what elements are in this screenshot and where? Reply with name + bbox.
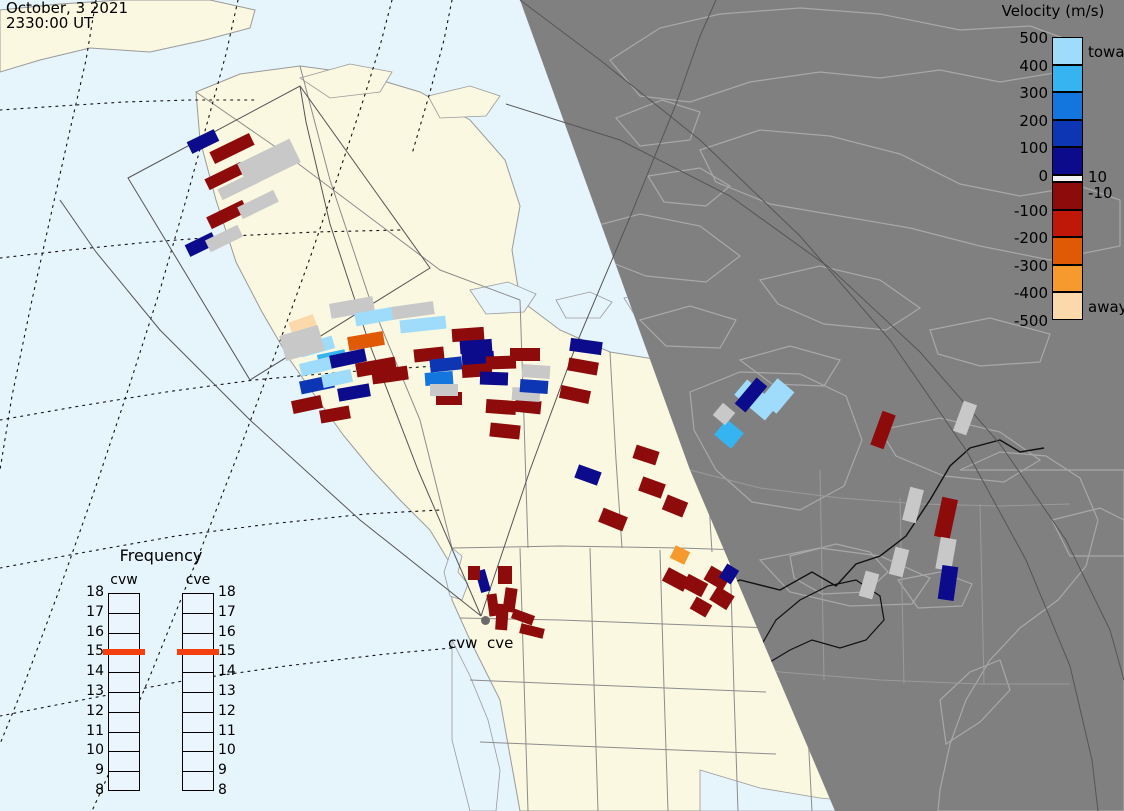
frequency-tick-label: 8	[218, 782, 242, 798]
radar-cell	[713, 403, 736, 426]
frequency-cell	[109, 614, 139, 634]
frequency-tick-label: 10	[218, 742, 242, 758]
frequency-cell	[183, 673, 213, 693]
frequency-tick-label: 15	[218, 643, 242, 659]
frequency-cell	[183, 733, 213, 753]
radar-cell	[569, 338, 602, 355]
frequency-cell	[183, 772, 213, 792]
radar-station-marker	[481, 616, 490, 625]
frequency-tick-label: 13	[80, 683, 104, 699]
colorbar-band	[1052, 92, 1083, 120]
radar-cell	[662, 494, 688, 517]
frequency-tick-label: 17	[80, 604, 104, 620]
radar-cell	[429, 356, 462, 372]
frequency-cell	[109, 713, 139, 733]
frequency-tick-label: 8	[80, 782, 104, 798]
frequency-tick-label: 14	[80, 663, 104, 679]
radar-cell	[938, 565, 959, 601]
site-label-cve: cve	[487, 634, 513, 652]
frequency-bar	[182, 593, 214, 791]
radar-cell	[953, 401, 977, 436]
frequency-marker	[177, 649, 219, 655]
frequency-tick-label: 11	[218, 723, 242, 739]
frequency-tick-label: 16	[218, 624, 242, 640]
frequency-cell	[183, 752, 213, 772]
radar-cell	[522, 364, 551, 379]
colorbar-band	[1052, 182, 1083, 210]
radar-cell	[638, 476, 666, 498]
radar-cell	[495, 604, 509, 631]
colorbar-zero-gap	[1052, 175, 1083, 182]
colorbar-band	[1052, 237, 1083, 265]
radar-cell	[510, 348, 540, 361]
timestamp-time: 2330:00 UT	[6, 16, 128, 31]
frequency-cell	[109, 772, 139, 792]
frequency-cell	[109, 594, 139, 614]
radar-cell	[430, 384, 458, 396]
radar-cell	[889, 547, 909, 578]
frequency-cell	[109, 733, 139, 753]
radar-cell	[237, 190, 279, 219]
frequency-cell	[183, 653, 213, 673]
radar-cell	[468, 566, 480, 580]
colorbar-band	[1052, 120, 1083, 148]
colorbar-strip	[1052, 37, 1083, 320]
radar-cell	[319, 405, 351, 423]
frequency-tick-label: 10	[80, 742, 104, 758]
frequency-column-name: cve	[176, 572, 220, 588]
radar-cell	[574, 464, 601, 485]
radar-cell	[559, 385, 591, 404]
frequency-tick-label: 12	[218, 703, 242, 719]
frequency-tick-label: 16	[80, 624, 104, 640]
frequency-tick-label: 17	[218, 604, 242, 620]
frequency-cell	[109, 693, 139, 713]
colorbar-band	[1052, 65, 1083, 93]
frequency-cell	[109, 653, 139, 673]
colorbar-band	[1052, 292, 1083, 320]
colorbar-band	[1052, 147, 1083, 175]
radar-cell	[399, 316, 446, 334]
radar-cell	[520, 379, 549, 394]
radar-cell	[480, 372, 508, 386]
radar-cell	[347, 331, 385, 351]
frequency-cell	[109, 752, 139, 772]
colorbar-band	[1052, 265, 1083, 293]
radar-cell	[709, 586, 734, 610]
colorbar-band	[1052, 37, 1083, 65]
radar-cell	[489, 422, 520, 439]
radar-cell	[205, 225, 243, 252]
radar-cell	[498, 566, 512, 584]
radar-cell	[934, 497, 958, 539]
radar-cell	[714, 419, 744, 448]
frequency-title: Frequency	[88, 546, 234, 565]
radar-cell	[486, 399, 517, 415]
radar-cell	[870, 411, 895, 450]
frequency-cell	[109, 673, 139, 693]
frequency-tick-label: 9	[80, 762, 104, 778]
frequency-marker	[103, 649, 145, 655]
frequency-cell	[183, 594, 213, 614]
radar-cell	[567, 357, 599, 375]
frequency-bar	[108, 593, 140, 791]
velocity-colorbar-panel: Velocity (m/s)	[975, 0, 1124, 340]
radar-cell	[519, 623, 545, 639]
frequency-cell	[183, 614, 213, 634]
radar-cell	[632, 445, 659, 466]
frequency-tick-label: 9	[218, 762, 242, 778]
timestamp-block: October, 3 2021 2330:00 UT	[6, 1, 128, 31]
frequency-tick-label: 11	[80, 723, 104, 739]
frequency-tick-label: 18	[80, 584, 104, 600]
frequency-column-name: cvw	[102, 572, 146, 588]
frequency-cell	[183, 693, 213, 713]
radar-cell	[321, 369, 353, 388]
radar-cell	[670, 545, 691, 565]
colorbar-band	[1052, 210, 1083, 238]
radar-cell	[859, 571, 880, 600]
frequency-legend: Frequency cvw18171615141312111098cve1817…	[88, 546, 234, 786]
frequency-tick-label: 14	[218, 663, 242, 679]
radar-cell	[337, 383, 371, 401]
frequency-tick-label: 18	[218, 584, 242, 600]
radar-cell	[598, 508, 628, 532]
superdarn-velocity-map: cvw cve October, 3 2021 2330:00 UT Veloc…	[0, 0, 1124, 811]
frequency-tick-label: 13	[218, 683, 242, 699]
site-label-cvw: cvw	[448, 634, 477, 652]
frequency-cell	[183, 713, 213, 733]
radar-cell	[902, 487, 924, 523]
colorbar-title: Velocity (m/s)	[982, 2, 1124, 20]
frequency-tick-label: 12	[80, 703, 104, 719]
frequency-tick-label: 15	[80, 643, 104, 659]
